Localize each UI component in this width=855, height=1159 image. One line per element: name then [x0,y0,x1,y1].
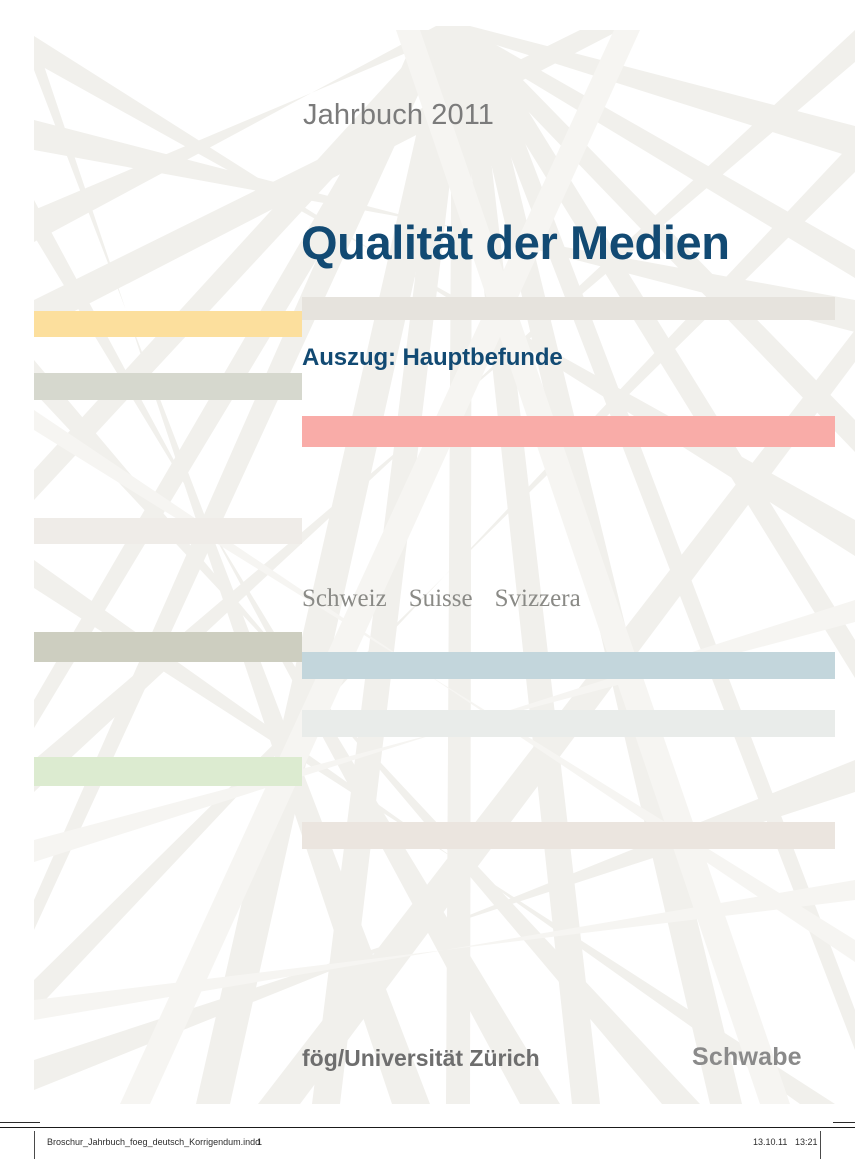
cover-title: Qualität der Medien [301,215,730,270]
print-slug-time: 13:21 [795,1137,818,1147]
bar-olive-left [34,632,302,662]
cover-publisher: fög/Universität Zürich [302,1045,540,1072]
cover-artwork: Jahrbuch 2011 Qualität der Medien Auszug… [0,0,855,1104]
cover-language-line: SchweizSuisseSvizzera [302,585,581,613]
bar-salmon-right [302,416,835,447]
crop-mark-bottom-right-horizontal [833,1122,855,1123]
bar-green-left [34,757,302,786]
bar-palegray-right [302,710,835,737]
footer-tick-left [34,1131,35,1159]
print-slug-filename: Broschur_Jahrbuch_foeg_deutsch_Korrigend… [47,1137,260,1147]
cover-subtitle: Auszug: Hauptbefunde [302,344,563,372]
bar-gray-right-top [302,297,835,320]
language-fr: Suisse [409,585,473,613]
cover-year-line: Jahrbuch 2011 [303,99,494,132]
bar-yellow-left [34,311,302,337]
footer-tick-right [820,1131,821,1159]
footer-rule [0,1127,855,1128]
crop-mark-bottom-left-horizontal [0,1122,40,1123]
bar-lightgray-left [34,518,302,544]
cover-imprint: Schwabe [692,1043,802,1072]
print-slug-page-number: 1 [257,1137,262,1147]
bar-blue-right [302,652,835,679]
page-canvas: Jahrbuch 2011 Qualität der Medien Auszug… [0,0,855,1159]
bar-beige-right [302,822,835,849]
language-it: Svizzera [495,585,581,613]
background-web-pattern [0,0,855,1104]
bar-graygreen-left [34,373,302,400]
print-slug-date: 13.10.11 [753,1137,787,1147]
language-de: Schweiz [302,585,387,613]
